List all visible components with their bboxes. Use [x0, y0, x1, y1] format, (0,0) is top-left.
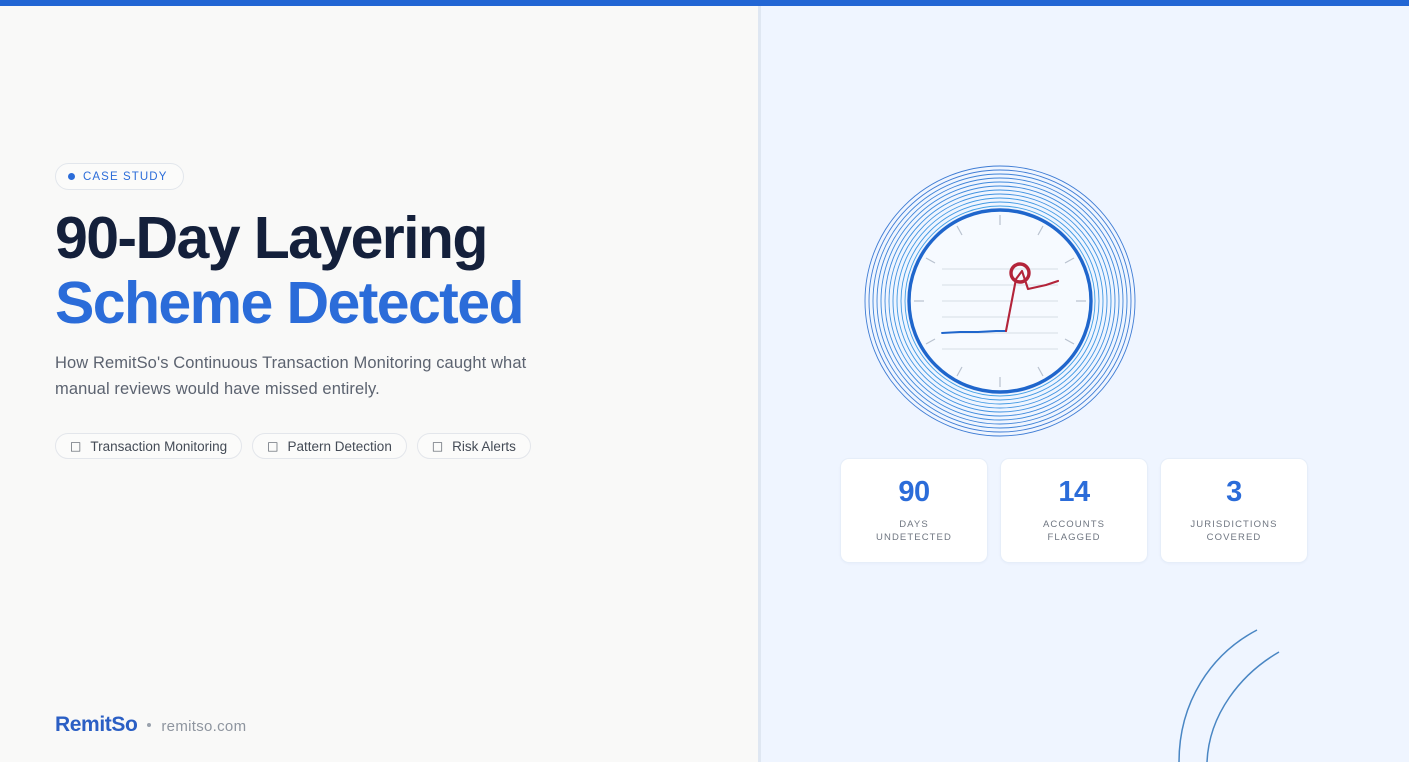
stat-label-line-1: DAYS	[899, 519, 929, 530]
right-visual-panel: 90 DAYS UNDETECTED 14 ACCOUNTS FLAGGED 3…	[761, 6, 1409, 762]
bullet-dot-icon	[147, 723, 151, 727]
radial-chart	[860, 161, 1140, 441]
case-study-badge: CASE STUDY	[55, 163, 184, 190]
stat-card-list: 90 DAYS UNDETECTED 14 ACCOUNTS FLAGGED 3…	[840, 458, 1308, 563]
stat-label-line-2: UNDETECTED	[876, 532, 952, 543]
brand-url[interactable]: remitso.com	[161, 718, 246, 735]
stat-label-line-1: JURISDICTIONS	[1190, 519, 1277, 530]
page-title: 90-Day Layering Scheme Detected	[55, 206, 715, 336]
stat-value: 14	[1015, 478, 1133, 507]
stat-label: JURISDICTIONS COVERED	[1175, 519, 1293, 545]
stat-label-line-1: ACCOUNTS	[1043, 519, 1105, 530]
tag-list: □ Transaction Monitoring □ Pattern Detec…	[55, 433, 531, 459]
stat-label-line-2: COVERED	[1207, 532, 1262, 543]
tag-label: Transaction Monitoring	[90, 439, 227, 454]
left-content-panel: CASE STUDY 90-Day Layering Scheme Detect…	[0, 6, 760, 762]
footer-brand: RemitSo remitso.com	[55, 713, 246, 737]
tag-chip-0[interactable]: □ Transaction Monitoring	[55, 433, 242, 459]
missing-glyph-icon: □	[267, 440, 278, 452]
stat-label-line-2: FLAGGED	[1047, 532, 1100, 543]
top-accent-bar	[0, 0, 1409, 6]
tag-label: Pattern Detection	[288, 439, 392, 454]
tag-chip-1[interactable]: □ Pattern Detection	[252, 433, 407, 459]
decorative-arcs-bottom-right	[1149, 602, 1349, 762]
stat-value: 3	[1175, 478, 1293, 507]
headline-line-2: Scheme Detected	[55, 271, 715, 336]
badge-label: CASE STUDY	[83, 171, 168, 183]
page-subtitle: How RemitSo's Continuous Transaction Mon…	[55, 350, 575, 402]
brand-logo: RemitSo	[55, 713, 137, 737]
stat-card-days-undetected: 90 DAYS UNDETECTED	[840, 458, 988, 563]
headline-line-1: 90-Day Layering	[55, 206, 715, 271]
stat-card-accounts-flagged: 14 ACCOUNTS FLAGGED	[1000, 458, 1148, 563]
case-study-page: CASE STUDY 90-Day Layering Scheme Detect…	[0, 0, 1409, 762]
stat-label: ACCOUNTS FLAGGED	[1015, 519, 1133, 545]
tag-chip-2[interactable]: □ Risk Alerts	[417, 433, 531, 459]
missing-glyph-icon: □	[70, 440, 81, 452]
tag-label: Risk Alerts	[452, 439, 516, 454]
stat-value: 90	[855, 478, 973, 507]
stat-card-jurisdictions-covered: 3 JURISDICTIONS COVERED	[1160, 458, 1308, 563]
missing-glyph-icon: □	[432, 440, 443, 452]
dot-icon	[68, 173, 75, 180]
radial-chart-svg	[860, 161, 1140, 441]
stat-label: DAYS UNDETECTED	[855, 519, 973, 545]
